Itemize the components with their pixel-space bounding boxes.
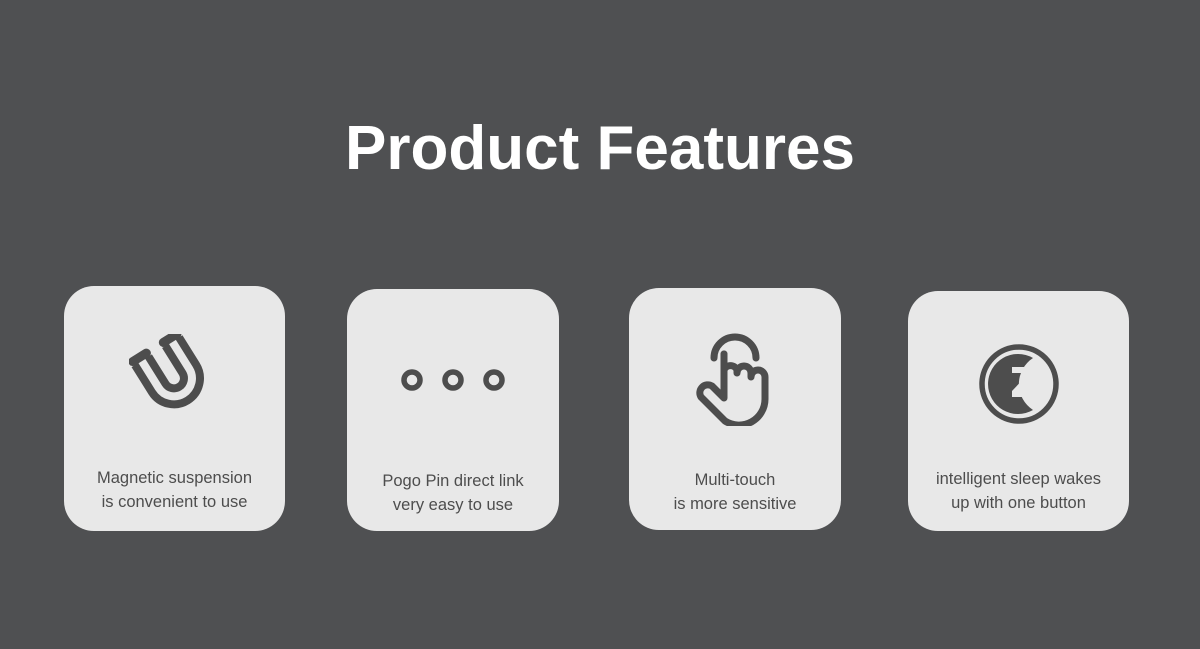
feature-card-intelligent-sleep[interactable]: intelligent sleep wakes up with one butt… <box>908 291 1129 531</box>
feature-icon-slot <box>629 324 841 434</box>
feature-icon-slot <box>347 325 559 435</box>
feature-card-multi-touch[interactable]: Multi-touch is more sensitive <box>629 288 841 530</box>
feature-card-magnetic-suspension[interactable]: Magnetic suspension is convenient to use <box>64 286 285 531</box>
pogo-pin-dots-icon <box>400 368 506 392</box>
feature-card-pogo-pin[interactable]: Pogo Pin direct link very easy to use <box>347 289 559 531</box>
feature-icon-slot <box>908 331 1129 437</box>
magnet-icon <box>129 334 221 420</box>
feature-icon-slot <box>64 322 285 432</box>
feature-card-caption: Magnetic suspension is convenient to use <box>72 466 277 514</box>
touch-hand-icon <box>692 332 778 426</box>
product-features-slide: Product Features Magn <box>0 0 1200 649</box>
feature-card-caption: Pogo Pin direct link very easy to use <box>355 469 551 517</box>
sleep-moon-z-icon <box>977 342 1061 426</box>
feature-card-caption: Multi-touch is more sensitive <box>637 468 833 516</box>
feature-card-caption: intelligent sleep wakes up with one butt… <box>916 467 1121 515</box>
feature-card-list: Magnetic suspension is convenient to use… <box>0 0 1200 649</box>
